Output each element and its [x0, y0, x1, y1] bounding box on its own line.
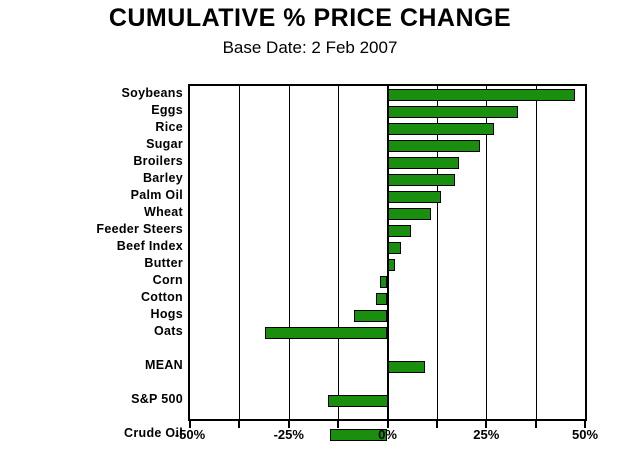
bar-soybeans: [388, 89, 576, 101]
y-label-wheat: Wheat: [0, 205, 183, 219]
x-tick-label-neg25: -25%: [259, 427, 319, 442]
y-label-eggs: Eggs: [0, 103, 183, 117]
bar-butter: [388, 259, 396, 271]
y-label-sugar: Sugar: [0, 137, 183, 151]
x-tick-neg37p5: [238, 421, 240, 428]
plot-area: [188, 84, 587, 421]
bar-s-p-500: [328, 395, 387, 407]
x-tick-label-neg50: -50%: [160, 427, 220, 442]
bar-oats: [265, 327, 387, 339]
bar-palm-oil: [388, 191, 441, 203]
bar-wheat: [388, 208, 431, 220]
bar-feeder-steers: [388, 225, 412, 237]
y-label-soybeans: Soybeans: [0, 86, 183, 100]
bar-cotton: [376, 293, 388, 305]
y-label-s-p-500: S&P 500: [0, 392, 183, 406]
bar-beef-index: [388, 242, 402, 254]
chart-page: CUMULATIVE % PRICE CHANGE Base Date: 2 F…: [0, 0, 620, 466]
x-tick-neg12p5: [337, 421, 339, 428]
x-tick-label-0: 0%: [358, 427, 418, 442]
x-tick-12p5: [436, 421, 438, 428]
y-label-butter: Butter: [0, 256, 183, 270]
x-tick-label-25: 25%: [456, 427, 516, 442]
y-label-palm-oil: Palm Oil: [0, 188, 183, 202]
y-label-barley: Barley: [0, 171, 183, 185]
bar-sugar: [388, 140, 481, 152]
bar-hogs: [354, 310, 388, 322]
bar-rice: [388, 123, 495, 135]
bar-series: [190, 86, 585, 419]
y-label-oats: Oats: [0, 324, 183, 338]
y-label-cotton: Cotton: [0, 290, 183, 304]
y-label-rice: Rice: [0, 120, 183, 134]
bar-broilers: [388, 157, 459, 169]
y-label-hogs: Hogs: [0, 307, 183, 321]
y-label-crude-oil: Crude Oil: [0, 426, 183, 440]
y-label-feeder-steers: Feeder Steers: [0, 222, 183, 236]
y-label-broilers: Broilers: [0, 154, 183, 168]
bar-eggs: [388, 106, 518, 118]
chart-title: CUMULATIVE % PRICE CHANGE: [0, 4, 620, 33]
y-label-beef-index: Beef Index: [0, 239, 183, 253]
chart-subtitle: Base Date: 2 Feb 2007: [0, 38, 620, 58]
y-label-corn: Corn: [0, 273, 183, 287]
bar-corn: [380, 276, 388, 288]
y-label-mean: MEAN: [0, 358, 183, 372]
bar-mean: [388, 361, 426, 373]
bar-barley: [388, 174, 455, 186]
x-tick-label-50: 50%: [555, 427, 615, 442]
x-tick-37p5: [535, 421, 537, 428]
